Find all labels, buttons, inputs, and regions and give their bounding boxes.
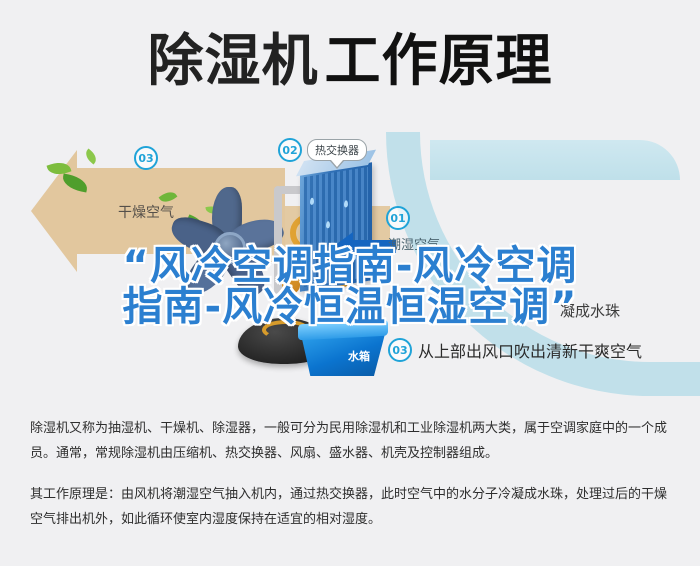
- page-title: 除湿机工作原理: [0, 26, 700, 98]
- humid-air-arc-tail: [430, 140, 680, 180]
- callout-text-air-outlet: 从上部出风口吹出清新干爽空气: [418, 338, 642, 362]
- callout-air-outlet: 03 从上部出风口吹出清新干爽空气: [388, 338, 642, 362]
- coil-pipe: [274, 186, 282, 294]
- title-part-1: 除湿机: [148, 29, 319, 94]
- callout-badge-01: 01: [386, 206, 410, 230]
- heat-exchanger-illustration: [300, 162, 372, 291]
- callout-humid-air: 01 潮湿空气: [386, 206, 440, 253]
- condensation-note: 凝成水珠: [560, 300, 620, 321]
- title-part-2: 工作原理: [325, 29, 553, 94]
- infographic-page: 除湿机工作原理: [0, 0, 700, 566]
- body-copy: 除湿机又称为抽湿机、干燥机、除湿器，一般可分为民用除湿机和工业除湿机两大类，属于…: [30, 416, 675, 532]
- water-tank-illustration: 水箱: [300, 322, 386, 384]
- paragraph-2: 其工作原理是：由风机将潮湿空气抽入机内，通过热交换器，此时空气中的水分子冷凝成水…: [30, 482, 675, 532]
- fan-hub: [214, 232, 246, 264]
- callout-dry-air: 03 干燥空气: [118, 146, 174, 222]
- leaf-icon: [83, 149, 100, 165]
- callout-badge-03-bottom: 03: [388, 338, 412, 362]
- callout-badge-03: 03: [134, 146, 158, 170]
- heat-exchanger-fins: [304, 167, 368, 287]
- callout-badge-02: 02: [278, 138, 302, 162]
- callout-label-dry-air: 干燥空气: [118, 202, 174, 222]
- callout-bubble-heat-exchanger: 热交换器: [307, 139, 367, 161]
- callout-label-humid-air: 潮湿空气: [388, 234, 440, 253]
- water-tank-label: 水箱: [348, 348, 370, 364]
- callout-heat-exchanger: 02 热交换器: [278, 138, 367, 162]
- paragraph-1: 除湿机又称为抽湿机、干燥机、除湿器，一般可分为民用除湿机和工业除湿机两大类，属于…: [30, 416, 675, 466]
- accumulator-tank: [282, 254, 300, 294]
